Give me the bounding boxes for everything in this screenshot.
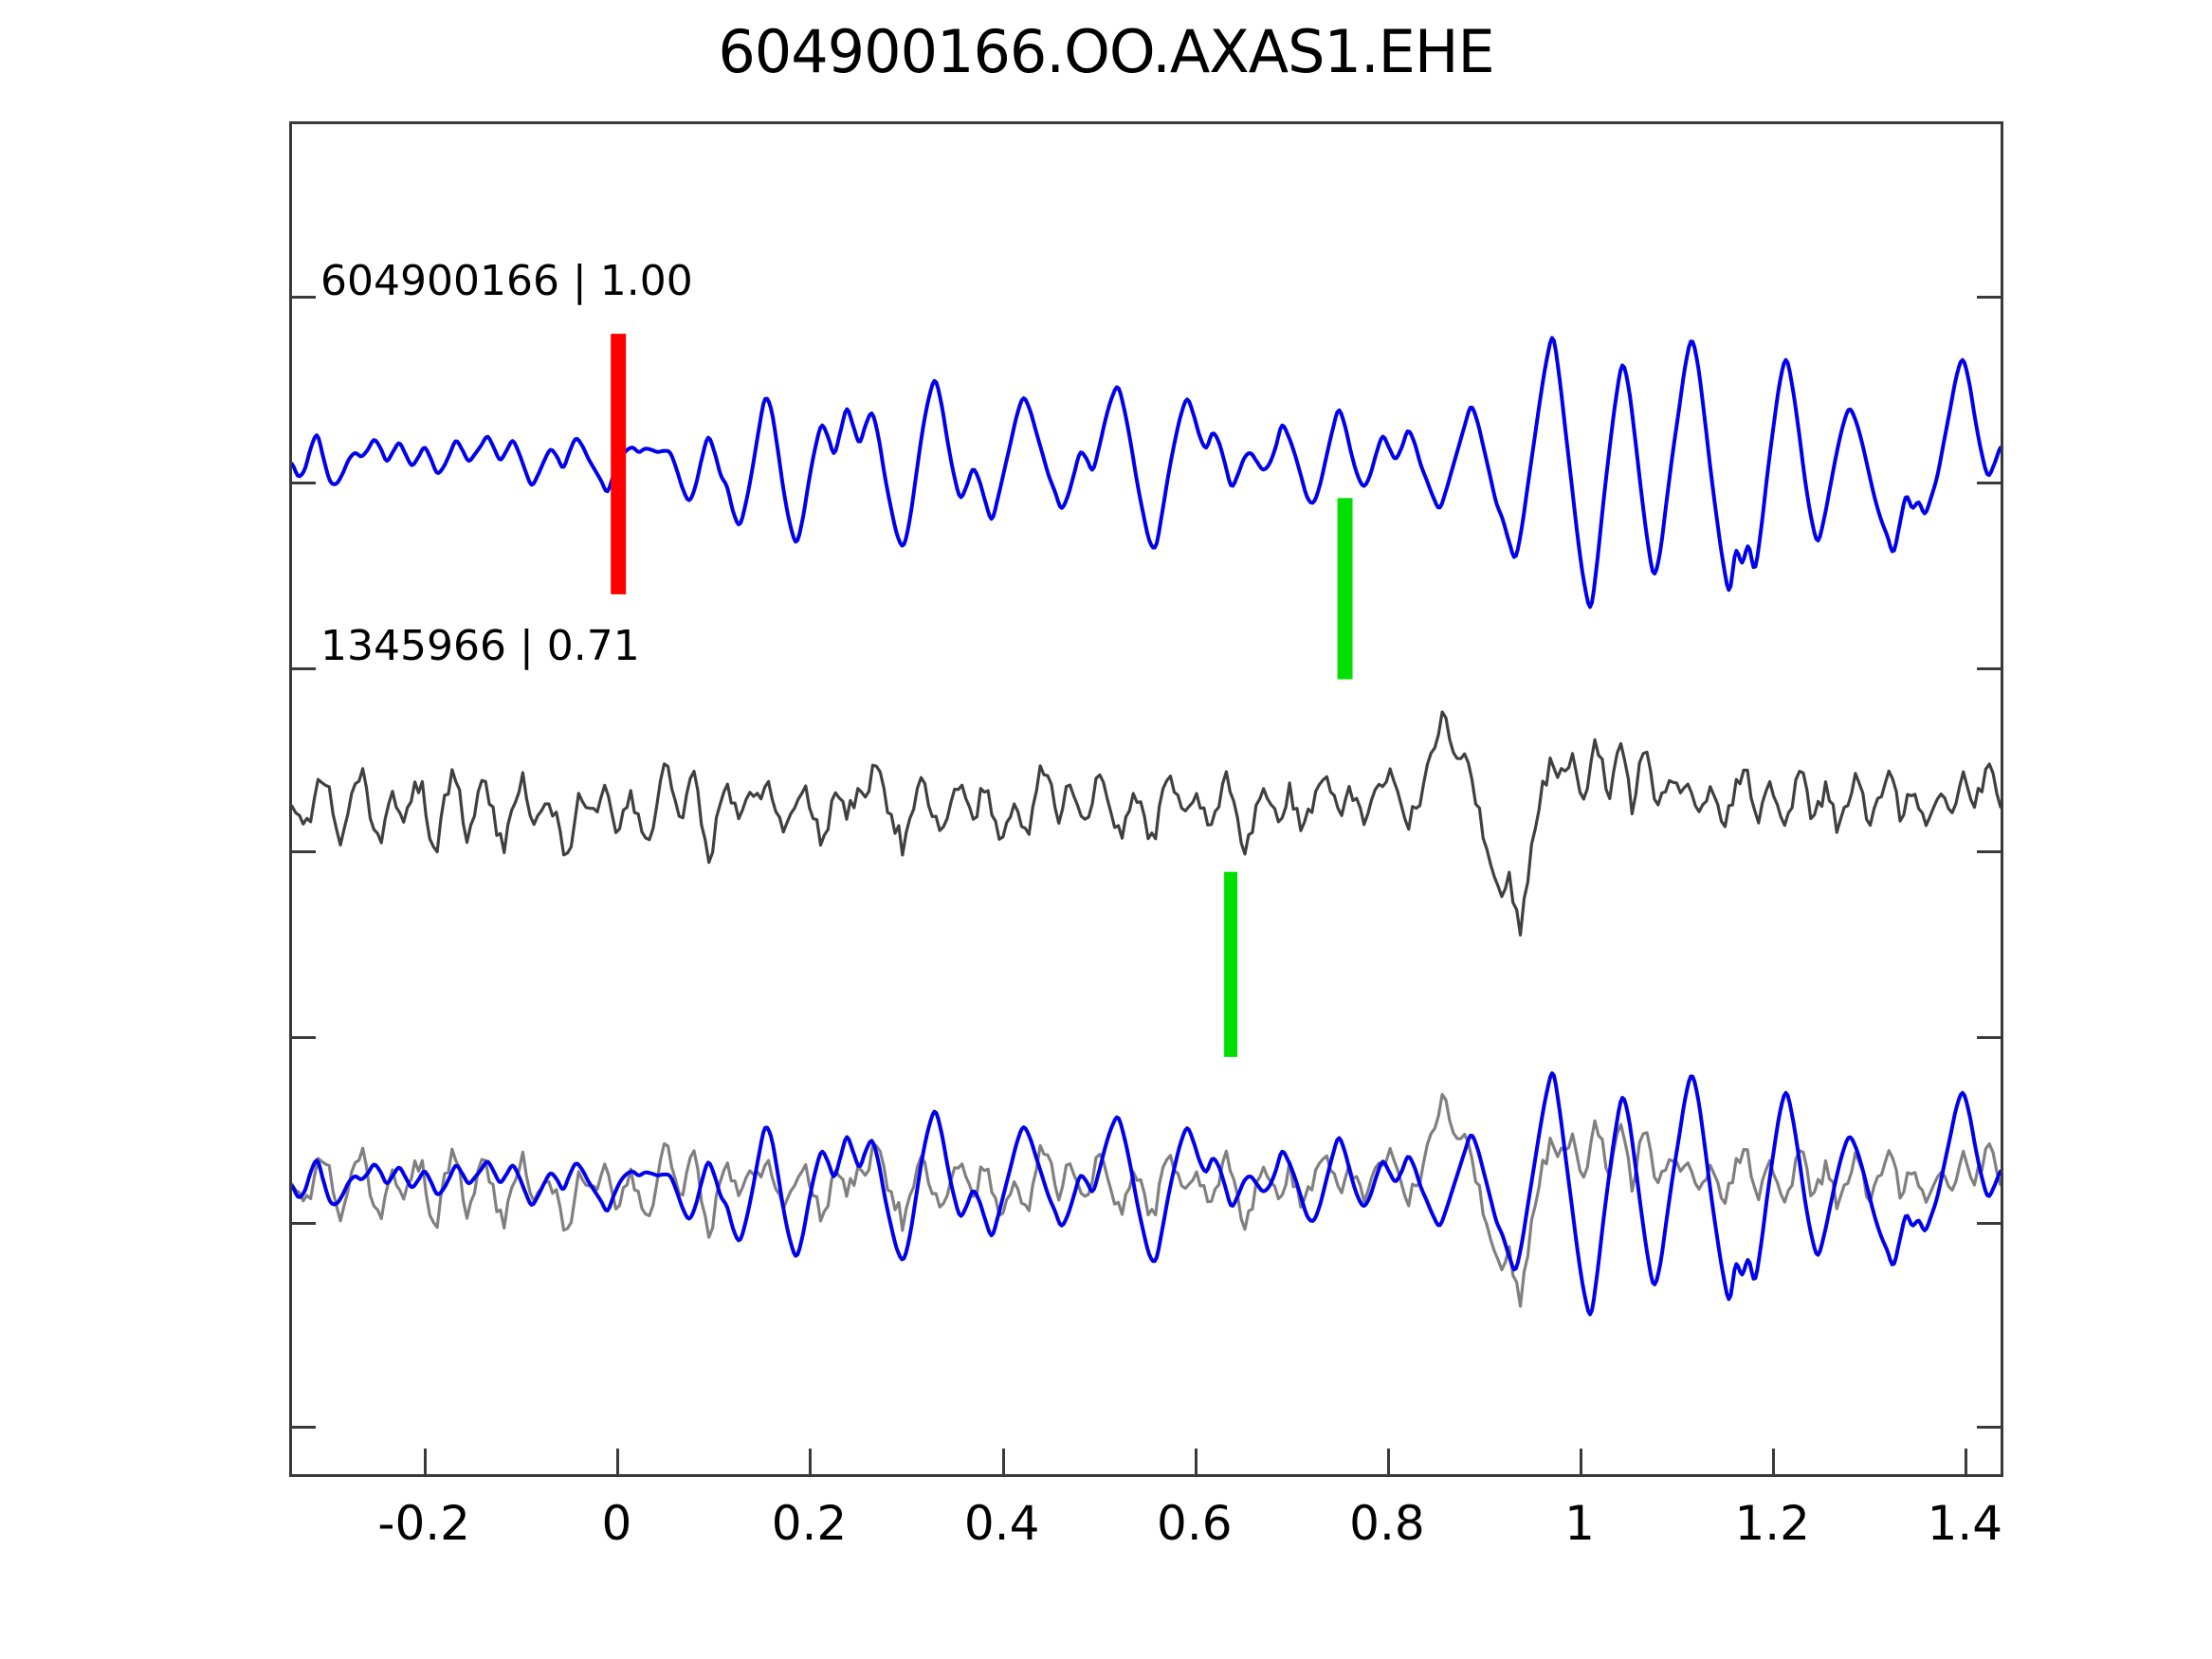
plot-area: 604900166 | 1.00 1345966 | 0.71: [289, 121, 2003, 1477]
overlay-trace-1-line: [292, 1073, 2001, 1314]
x-axis-tick-label-2: 0.2: [772, 1496, 848, 1551]
waveform-svg: [292, 124, 2001, 1474]
trace-1-path: [292, 337, 2001, 607]
x-axis-tick-label-0: -0.2: [377, 1496, 470, 1551]
x-axis-tick-mark-4: [1195, 1449, 1197, 1477]
x-axis-tick-label-4: 0.6: [1157, 1496, 1233, 1551]
x-axis-tick-label-3: 0.4: [964, 1496, 1040, 1551]
y-axis-tick-6-right: [1977, 1426, 2003, 1429]
pick-markers: [611, 334, 1352, 1057]
trace-2-line: [292, 712, 2001, 935]
y-axis-tick-4-right: [1977, 1036, 2003, 1039]
s-pick-trace-1-marker: [1338, 498, 1353, 679]
y-axis-tick-3-left: [289, 850, 316, 853]
y-axis-tick-1-right: [1977, 482, 2003, 484]
x-axis-tick-mark-1: [616, 1449, 619, 1477]
y-axis-tick-2-right: [1977, 667, 2003, 670]
x-axis-tick-mark-7: [1772, 1449, 1775, 1477]
overlay-trace-2-line: [292, 1094, 2001, 1305]
x-axis-tick-label-7: 1.2: [1734, 1496, 1810, 1551]
y-axis-tick-5-left: [289, 1222, 316, 1225]
page-title: 604900166.OO.AXAS1.EHE: [0, 17, 2212, 86]
x-axis-tick-mark-2: [809, 1449, 812, 1477]
y-axis-tick-3-right: [1977, 850, 2003, 853]
figure-root: 604900166.OO.AXAS1.EHE 604900166 | 1.00 …: [0, 0, 2212, 1659]
trace-2-label: 1345966 | 0.71: [320, 622, 640, 670]
overlay-trace-1-path: [292, 1073, 2001, 1314]
y-axis-tick-4-left: [289, 1036, 316, 1039]
y-axis-tick-1-left: [289, 482, 316, 484]
overlay-trace-2-path: [292, 1094, 2001, 1305]
x-axis-tick-label-1: 0: [601, 1496, 631, 1551]
s-pick-trace-2-marker: [1224, 872, 1237, 1057]
x-axis-tick-mark-0: [424, 1449, 427, 1477]
x-axis-tick-mark-3: [1002, 1449, 1005, 1477]
x-axis-tick-mark-8: [1965, 1449, 1967, 1477]
trace-2-path: [292, 712, 2001, 935]
x-axis-tick-label-8: 1.4: [1928, 1496, 2003, 1551]
y-axis-tick-6-left: [289, 1426, 316, 1429]
y-axis-tick-0-left: [289, 296, 316, 299]
x-axis-tick-label-6: 1: [1564, 1496, 1595, 1551]
y-axis-tick-0-right: [1977, 296, 2003, 299]
p-pick-trace-1-marker: [611, 334, 626, 594]
x-axis-tick-mark-6: [1580, 1449, 1582, 1477]
x-axis-tick-mark-5: [1387, 1449, 1390, 1477]
x-axis-tick-label-5: 0.8: [1349, 1496, 1425, 1551]
y-axis-tick-2-left: [289, 667, 316, 670]
trace-1-line: [292, 337, 2001, 607]
trace-1-label: 604900166 | 1.00: [320, 257, 693, 305]
y-axis-tick-5-right: [1977, 1222, 2003, 1225]
